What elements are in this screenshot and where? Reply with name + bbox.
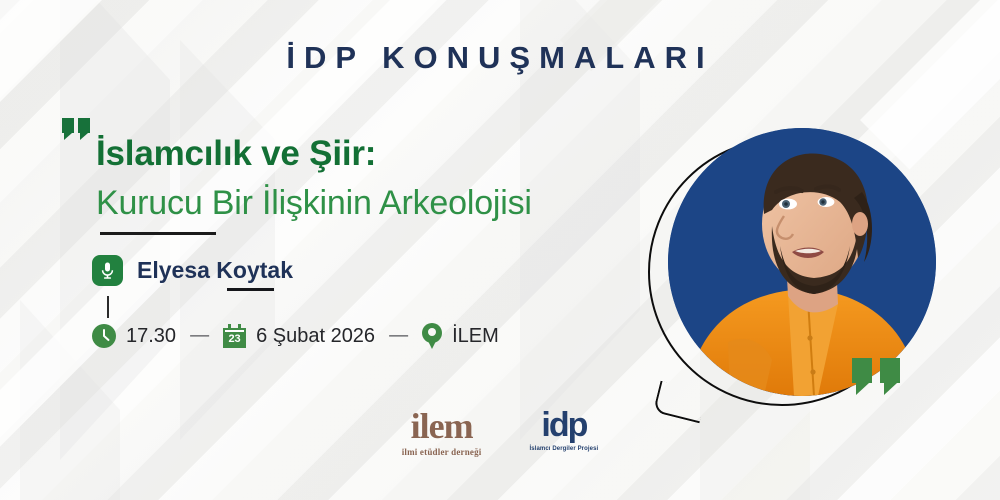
location-pin-icon bbox=[422, 323, 442, 349]
logo-idp-subtitle: İslamcı Dergiler Projesi bbox=[530, 446, 599, 452]
speaker-underline bbox=[227, 288, 274, 291]
speaker-row: Elyesa Koytak bbox=[92, 255, 293, 286]
quote-close-icon bbox=[852, 358, 908, 394]
event-time-value: 17.30 bbox=[126, 325, 176, 348]
microphone-icon bbox=[92, 255, 123, 286]
microphone-stem-line bbox=[107, 296, 109, 318]
logo-idp: idp İslamcı Dergiler Projesi bbox=[530, 408, 599, 452]
talk-title-line2: Kurucu Bir İlişkinin Arkeolojisi bbox=[96, 184, 532, 223]
title-underline bbox=[100, 232, 216, 235]
speaker-name: Elyesa Koytak bbox=[137, 257, 293, 284]
quote-open-icon bbox=[62, 118, 96, 140]
logo-ilem-subtitle: ilmi etüdler derneği bbox=[402, 447, 482, 457]
logo-ilem-word: ilem bbox=[402, 408, 482, 444]
calendar-icon: 23 bbox=[223, 324, 246, 348]
event-date-value: 6 Şubat 2026 bbox=[256, 325, 375, 348]
talk-title-line1: İslamcılık ve Şiir: bbox=[96, 134, 376, 174]
clock-icon bbox=[92, 324, 116, 348]
event-poster: İDP KONUŞMALARI İslamcılık ve Şiir: Kuru… bbox=[0, 0, 1000, 500]
logo-ilem: ilem ilmi etüdler derneği bbox=[402, 408, 482, 457]
logo-row: ilem ilmi etüdler derneği idp İslamcı De… bbox=[0, 408, 1000, 457]
event-location-value: İLEM bbox=[452, 325, 499, 348]
event-details-row: 17.30 — 23 6 Şubat 2026 — İLEM bbox=[92, 323, 499, 349]
event-location: İLEM bbox=[422, 323, 499, 349]
event-time: 17.30 bbox=[92, 324, 176, 348]
calendar-day-number: 23 bbox=[223, 333, 246, 345]
avatar bbox=[668, 128, 936, 396]
meta-separator: — bbox=[386, 325, 411, 347]
logo-idp-word: idp bbox=[530, 408, 599, 442]
meta-separator: — bbox=[187, 325, 212, 347]
page-title: İDP KONUŞMALARI bbox=[0, 40, 1000, 76]
event-date: 23 6 Şubat 2026 bbox=[223, 324, 375, 348]
